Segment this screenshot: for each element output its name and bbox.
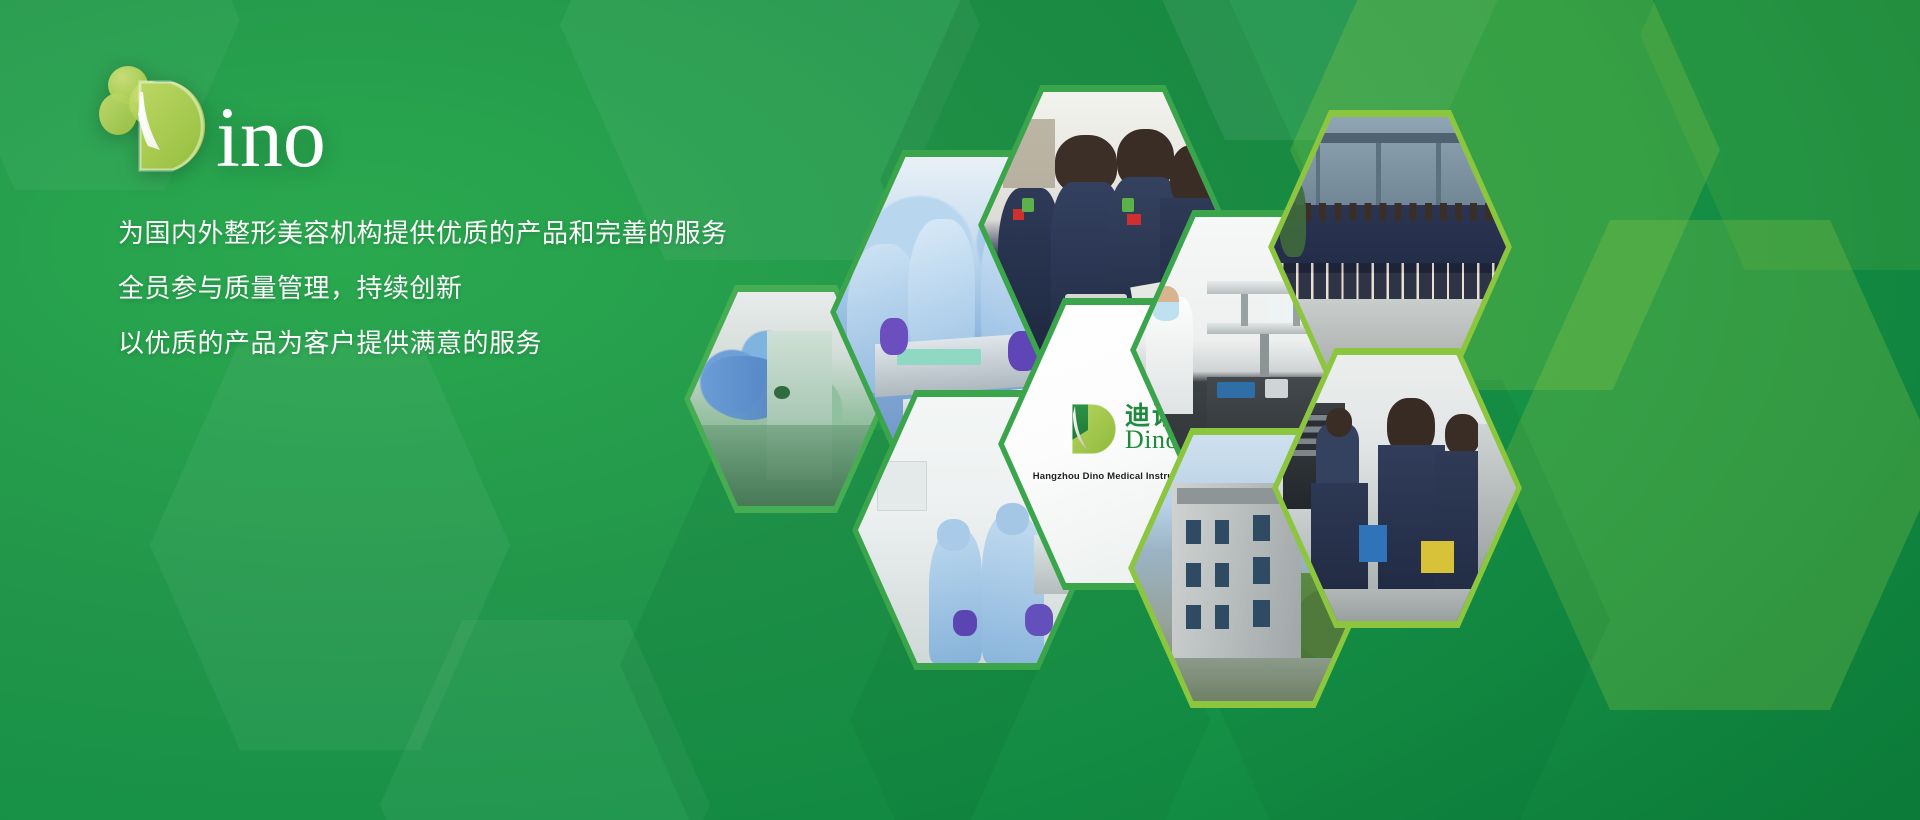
tagline-2: 全员参与质量管理，持续创新 bbox=[118, 275, 848, 301]
dino-leaf-logo-icon: ino bbox=[88, 58, 418, 178]
hero-banner: ino 为国内外整形美容机构提供优质的产品和完善的服务 全员参与质量管理，持续创… bbox=[0, 0, 1920, 820]
dino-leaf-mark-icon bbox=[1066, 400, 1118, 456]
hexagon-photo-cluster: 迪诺® Dino Hangzhou Dino Medical Instrumen… bbox=[660, 90, 1920, 590]
svg-text:ino: ino bbox=[216, 89, 326, 178]
tagline-list: 为国内外整形美容机构提供优质的产品和完善的服务 全员参与质量管理，持续创新 以优… bbox=[88, 220, 848, 356]
hero-copy: ino 为国内外整形美容机构提供优质的产品和完善的服务 全员参与质量管理，持续创… bbox=[88, 58, 848, 356]
dino-logo: ino bbox=[88, 58, 418, 178]
tagline-3: 以优质的产品为客户提供满意的服务 bbox=[118, 330, 848, 356]
tagline-1: 为国内外整形美容机构提供优质的产品和完善的服务 bbox=[118, 220, 848, 246]
